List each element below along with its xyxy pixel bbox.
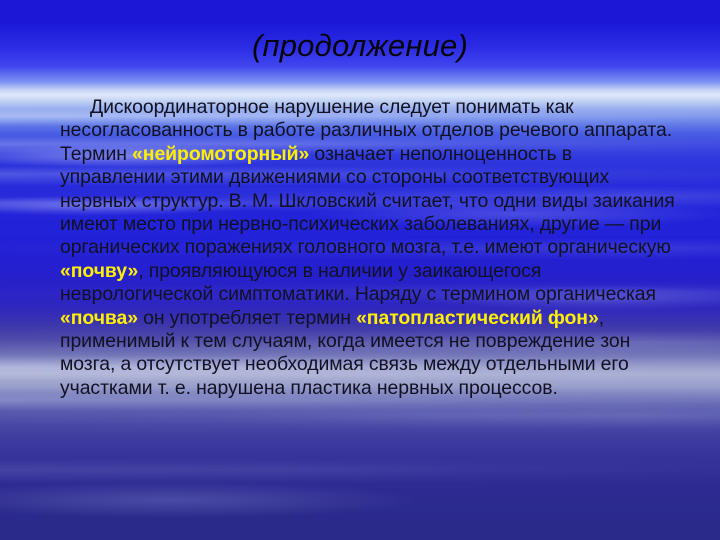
highlighted-term: «почву»	[60, 260, 138, 282]
highlighted-term: «патопластический фон»	[356, 307, 599, 329]
slide-title: (продолжение)	[0, 29, 720, 62]
presentation-slide: (продолжение) Дискоординаторное нарушени…	[0, 0, 720, 540]
highlighted-term: «почва»	[60, 307, 138, 329]
slide-body-text: Дискоординаторное нарушение следует пони…	[60, 96, 678, 400]
body-text-run: , проявляющуюся в наличии у заикающегося…	[60, 260, 656, 305]
highlighted-term: «нейромоторный»	[132, 143, 309, 165]
body-text-run: он употребляет термин	[138, 307, 356, 329]
